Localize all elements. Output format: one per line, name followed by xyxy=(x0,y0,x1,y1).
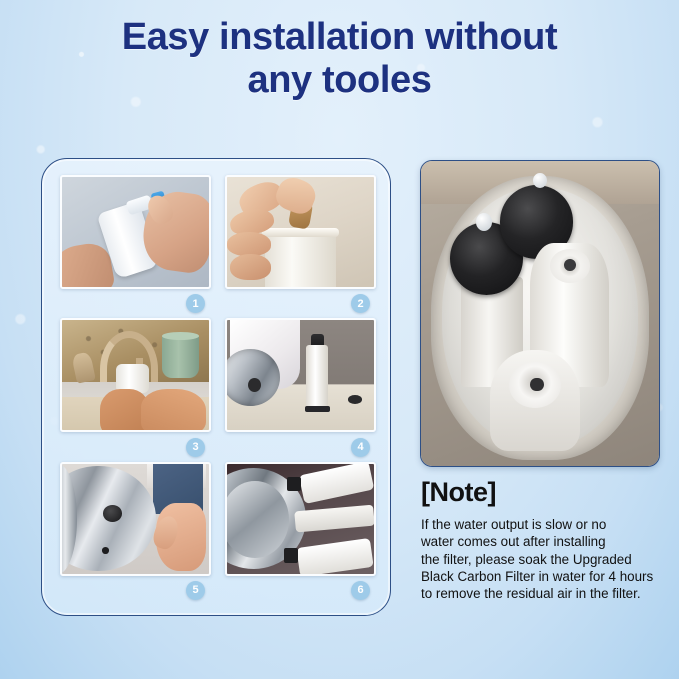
step-badge-4: 4 xyxy=(351,438,370,457)
lid-small-hole-shape xyxy=(102,547,109,554)
green-mug-rim xyxy=(162,332,199,340)
scene-filters-installed xyxy=(227,464,374,574)
step-badge-5: 5 xyxy=(186,581,205,600)
page-title: Easy installation without any tooles xyxy=(0,16,679,103)
step-photo-3 xyxy=(60,318,211,432)
step-badge-3: 3 xyxy=(186,438,205,457)
infographic-page: Easy installation without any tooles 1 xyxy=(0,0,679,679)
scene-filter-blue-cap xyxy=(62,177,209,287)
step-photo-1 xyxy=(60,175,211,289)
step-cell-5: 5 xyxy=(60,462,207,599)
scene-lid-and-cartridge xyxy=(227,320,374,430)
note-line-3: the filter, please soak the Upgraded xyxy=(421,551,665,568)
scene-filters-soaking xyxy=(421,161,659,466)
step-photo-2 xyxy=(225,175,376,289)
note-line-4: Black Carbon Filter in water for 4 hours xyxy=(421,568,665,585)
o-ring-shape xyxy=(348,395,363,404)
step-photo-5 xyxy=(60,462,211,576)
cartridge-shape-1 xyxy=(298,462,373,504)
white-filter-2-hole xyxy=(564,259,576,271)
cartridge-body-shape xyxy=(306,345,328,409)
note-line-2: water comes out after installing xyxy=(421,533,665,550)
installation-steps-card: 1 2 xyxy=(41,158,391,616)
step-cell-6: 6 xyxy=(225,462,372,599)
cartridge-shape-2 xyxy=(294,504,375,532)
lid-port-shape xyxy=(248,378,261,392)
step-badge-1: 1 xyxy=(186,294,205,313)
step-cell-3: 3 xyxy=(60,318,207,455)
step-photo-6 xyxy=(225,462,376,576)
finger-shape-4 xyxy=(230,254,271,280)
step-badge-2: 2 xyxy=(351,294,370,313)
filter-rim-shape xyxy=(262,228,338,238)
steps-grid: 1 2 xyxy=(60,175,372,599)
cartridge-connector-3 xyxy=(284,548,297,562)
note-line-5: to remove the residual air in the filter… xyxy=(421,585,665,602)
step-badge-6: 6 xyxy=(351,581,370,600)
cartridge-connector-1 xyxy=(287,477,300,491)
title-line-2: any tooles xyxy=(0,59,679,102)
cartridge-base-shape xyxy=(305,406,330,412)
white-filter-3-hole xyxy=(530,378,543,392)
step-cell-2: 2 xyxy=(225,175,372,312)
step-cell-1: 1 xyxy=(60,175,207,312)
scene-dispenser-lid xyxy=(62,464,209,574)
step-cell-4: 4 xyxy=(225,318,372,455)
scene-rinsing-under-faucet xyxy=(62,320,209,430)
green-mug-shape xyxy=(162,334,199,378)
hero-photo xyxy=(420,160,660,467)
note-heading: [Note] xyxy=(421,477,496,508)
filter-body-shape xyxy=(265,230,336,287)
thumb-shape xyxy=(272,175,320,218)
note-line-1: If the water output is slow or no xyxy=(421,516,665,533)
scene-gripping-filter xyxy=(227,177,374,287)
hand-shape-2 xyxy=(141,389,206,433)
step-photo-4 xyxy=(225,318,376,432)
finger-shape-3 xyxy=(227,232,271,256)
cartridge-shape-3 xyxy=(296,538,373,576)
title-line-1: Easy installation without xyxy=(122,16,558,58)
note-body: If the water output is slow or no water … xyxy=(421,516,665,602)
